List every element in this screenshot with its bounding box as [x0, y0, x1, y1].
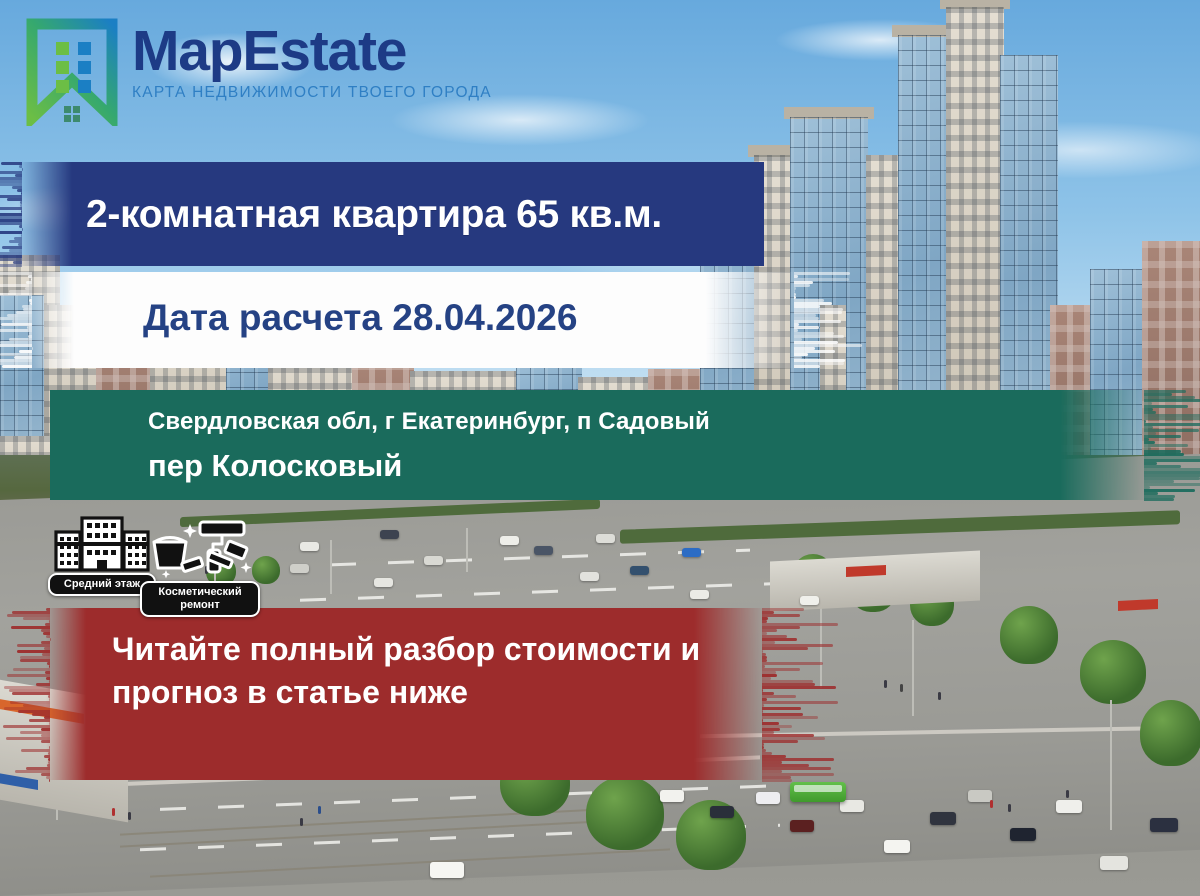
brush-fray-edge [1144, 390, 1200, 500]
brand-tagline: КАРТА НЕДВИЖИМОСТИ ТВОЕГО ГОРОДА [132, 84, 492, 102]
address-region: Свердловская обл, г Екатеринбург, п Садо… [148, 408, 1148, 436]
property-title: 2-комнатная квартира 65 кв.м. [18, 162, 764, 237]
bookmark-building-icon [26, 18, 118, 126]
promo-banner: MapEstate КАРТА НЕДВИЖИМОСТИ ТВОЕГО ГОРО… [0, 0, 1200, 896]
address-band: Свердловская обл, г Екатеринбург, п Садо… [50, 390, 1148, 500]
brand-name: MapEstate [132, 24, 492, 80]
calculation-date: Дата расчета 28.04.2026 [28, 272, 798, 339]
brush-fray-edge [794, 272, 864, 368]
buildings-icon [50, 512, 154, 576]
address-text-group: Свердловская обл, г Екатеринбург, п Садо… [50, 390, 1148, 484]
calculation-date-band: Дата расчета 28.04.2026 [28, 272, 798, 368]
address-street: пер Колосковый [148, 448, 1148, 484]
badge-line-2: ремонт [180, 599, 219, 611]
brush-fray-edge [762, 608, 838, 780]
paint-roller-brush-icon [142, 518, 258, 584]
city-bus [790, 782, 846, 802]
property-title-band: 2-комнатная квартира 65 кв.м. [18, 162, 764, 266]
brand-text: MapEstate КАРТА НЕДВИЖИМОСТИ ТВОЕГО ГОРО… [132, 18, 492, 102]
badge-cosmetic-renovation-label: Косметическийремонт [140, 581, 260, 617]
brush-fray-edge [2, 608, 50, 780]
brand-logo[interactable]: MapEstate КАРТА НЕДВИЖИМОСТИ ТВОЕГО ГОРО… [26, 18, 492, 126]
cta-text: Читайте полный разбор стоимости и прогно… [46, 608, 766, 713]
cta-band[interactable]: Читайте полный разбор стоимости и прогно… [46, 608, 766, 780]
badge-line-1: Косметический [158, 586, 241, 598]
badge-cosmetic-renovation: Косметическийремонт [140, 518, 260, 617]
